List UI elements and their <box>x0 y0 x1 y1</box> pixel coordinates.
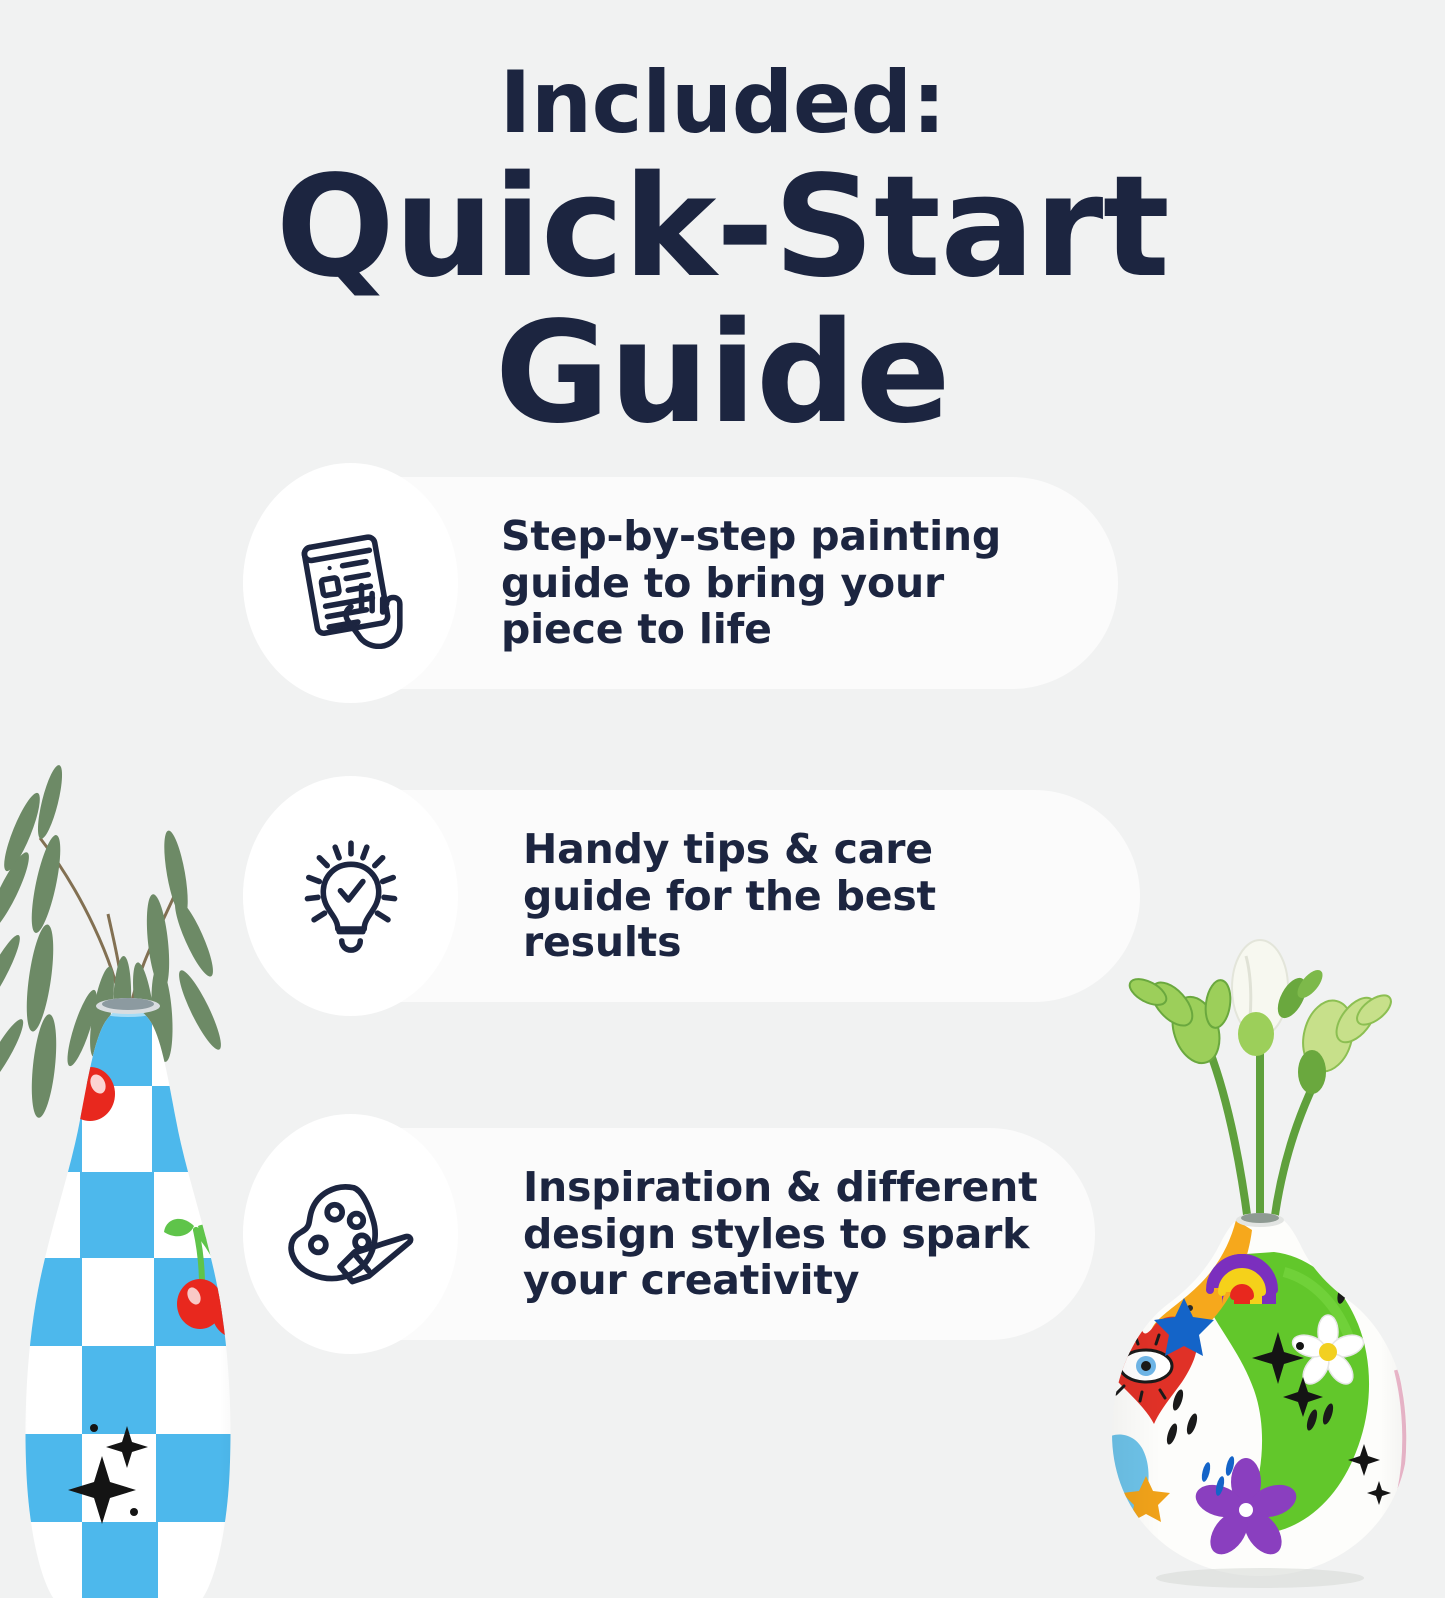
title-line-guide: Guide <box>0 298 1445 449</box>
feature-pill-step-by-step[interactable]: Step-by-step painting guide to bring you… <box>243 477 1118 689</box>
feature-pill-tips-care[interactable]: Handy tips & care guide for the best res… <box>243 790 1140 1002</box>
feature-icon-bubble <box>243 1114 458 1354</box>
title-line-included: Included: <box>0 57 1445 150</box>
feature-text: Handy tips & care guide for the best res… <box>523 826 936 966</box>
feature-icon-bubble <box>243 776 458 1016</box>
lightbulb-check-icon <box>285 830 417 962</box>
page-title: Included: Quick-Start Guide <box>0 57 1445 448</box>
feature-pill-inspiration[interactable]: Inspiration & different design styles to… <box>243 1128 1095 1340</box>
title-line-quick-start: Quick-Start <box>0 152 1445 303</box>
feature-icon-bubble <box>243 463 458 703</box>
infographic-canvas: Included: Quick-Start Guide <box>0 0 1445 1598</box>
feature-text: Inspiration & different design styles to… <box>523 1164 1038 1304</box>
document-hand-icon <box>285 517 417 649</box>
palette-brush-icon <box>283 1166 419 1302</box>
photo-rainbow-doodle-vase <box>1060 900 1445 1598</box>
feature-text: Step-by-step painting guide to bring you… <box>501 513 1001 653</box>
